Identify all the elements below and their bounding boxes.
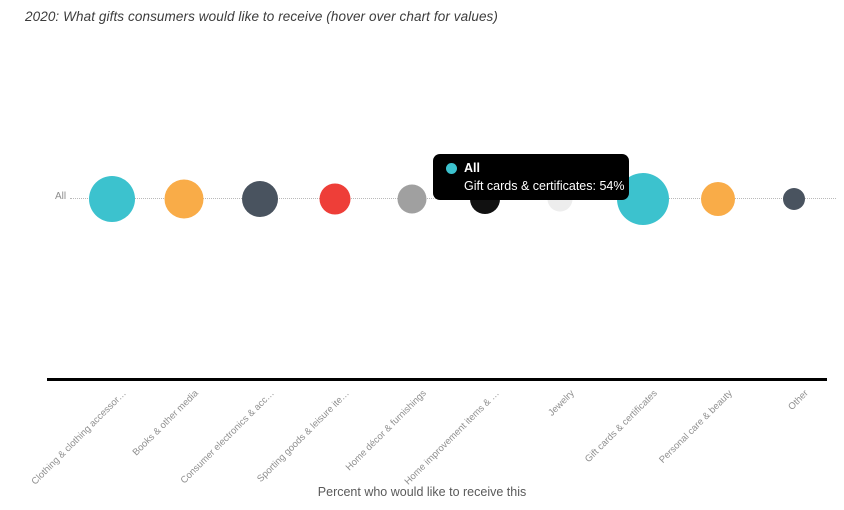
chart-plot-area[interactable]: All All Gift cards & certificates: 54% C…: [0, 0, 844, 510]
bubble-point[interactable]: [783, 188, 805, 210]
x-axis-tick-label: Gift cards & certificates: [583, 388, 660, 465]
bubble-point[interactable]: [89, 176, 135, 222]
bubble-point[interactable]: [165, 180, 204, 219]
bubble-point[interactable]: [398, 185, 427, 214]
x-axis-tick-label: Other: [786, 388, 811, 413]
tooltip-series-dot-icon: [446, 163, 457, 174]
row-label-all: All: [55, 191, 66, 203]
x-axis-caption: Percent who would like to receive this: [0, 485, 844, 499]
x-axis-line: [47, 378, 827, 381]
tooltip-header: All: [443, 160, 619, 176]
x-axis-tick-label: Books & other media: [131, 388, 201, 458]
bubble-point[interactable]: [242, 181, 278, 217]
bubble-point[interactable]: [701, 182, 735, 216]
bubble-point[interactable]: [320, 184, 351, 215]
x-axis-tick-label: Home décor & furnishings: [344, 388, 429, 473]
x-axis-tick-label: Jewelry: [546, 388, 577, 419]
tooltip: All Gift cards & certificates: 54%: [433, 154, 629, 200]
x-axis-tick-label: Clothing & clothing accessor…: [30, 388, 129, 487]
tooltip-series-label: All: [464, 161, 480, 175]
tooltip-value-label: Gift cards & certificates: 54%: [464, 178, 619, 194]
x-axis-tick-label: Personal care & beauty: [657, 388, 735, 466]
